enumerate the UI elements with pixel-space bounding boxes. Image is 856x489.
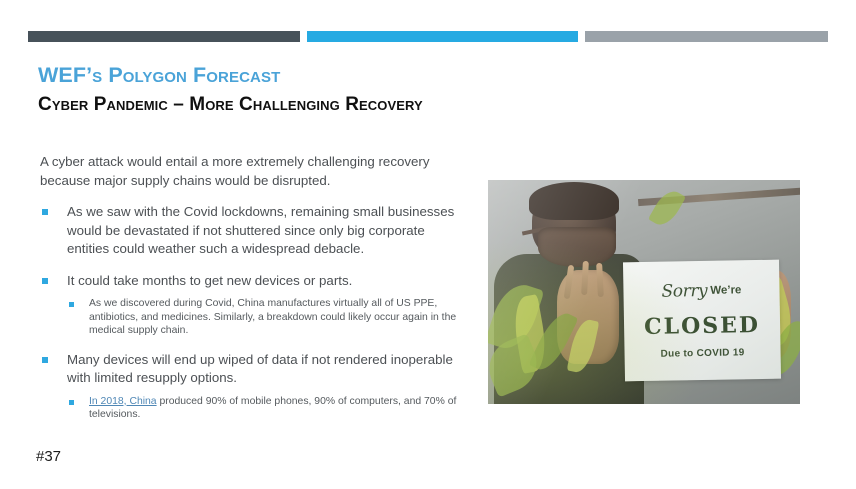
bullet-list: As we saw with the Covid lockdowns, rema…	[40, 203, 468, 422]
body-content: A cyber attack would entail a more extre…	[40, 153, 468, 435]
bullet-square-icon	[69, 302, 74, 307]
list-item: In 2018, China produced 90% of mobile ph…	[67, 395, 468, 422]
bullet-text: As we saw with the Covid lockdowns, rema…	[67, 204, 454, 256]
bullet-text: Many devices will end up wiped of data i…	[67, 352, 453, 386]
bullet-square-icon	[42, 209, 48, 215]
bullet-square-icon	[42, 357, 48, 363]
slide-page-number: #37	[36, 448, 61, 465]
lead-paragraph: A cyber attack would entail a more extre…	[40, 153, 468, 190]
sub-bullet-list: In 2018, China produced 90% of mobile ph…	[67, 395, 468, 422]
sign-line-due-to-covid: Due to COVID 19	[624, 346, 780, 360]
photo-finger	[581, 260, 589, 294]
sign-were-word: We’re	[710, 284, 741, 297]
list-item: It could take months to get new devices …	[40, 272, 468, 338]
bullet-square-icon	[69, 400, 74, 405]
list-item: As we saw with the Covid lockdowns, rema…	[40, 203, 468, 259]
sub-bullet-text: As we discovered during Covid, China man…	[89, 298, 456, 336]
slide: WEF’s Polygon Forecast Cyber Pandemic – …	[0, 0, 856, 489]
closed-sign: SorryWe’re CLOSED Due to COVID 19	[623, 259, 781, 380]
sub-bullet-list: As we discovered during Covid, China man…	[67, 297, 468, 338]
source-hyperlink[interactable]: In 2018, China	[89, 396, 157, 407]
header-rule-segment-gray	[585, 31, 828, 42]
slide-title: WEF’s Polygon Forecast	[38, 63, 280, 88]
photo-inner: SorryWe’re CLOSED Due to COVID 19	[488, 180, 800, 404]
sign-sorry-word: Sorry	[661, 281, 707, 302]
closed-shop-photo: SorryWe’re CLOSED Due to COVID 19	[488, 180, 800, 404]
list-item: As we discovered during Covid, China man…	[67, 297, 468, 338]
sign-line-sorry: SorryWe’re	[623, 279, 779, 302]
bullet-square-icon	[42, 278, 48, 284]
slide-subtitle: Cyber Pandemic – More Challenging Recove…	[38, 94, 423, 116]
header-rule-segment-dark	[28, 31, 300, 42]
photo-person-hair	[529, 182, 619, 220]
sign-line-closed: CLOSED	[624, 311, 780, 340]
photo-face-mask	[538, 227, 616, 267]
list-item: Many devices will end up wiped of data i…	[40, 351, 468, 422]
bullet-text: It could take months to get new devices …	[67, 273, 352, 288]
header-rule-segment-blue	[307, 31, 578, 42]
